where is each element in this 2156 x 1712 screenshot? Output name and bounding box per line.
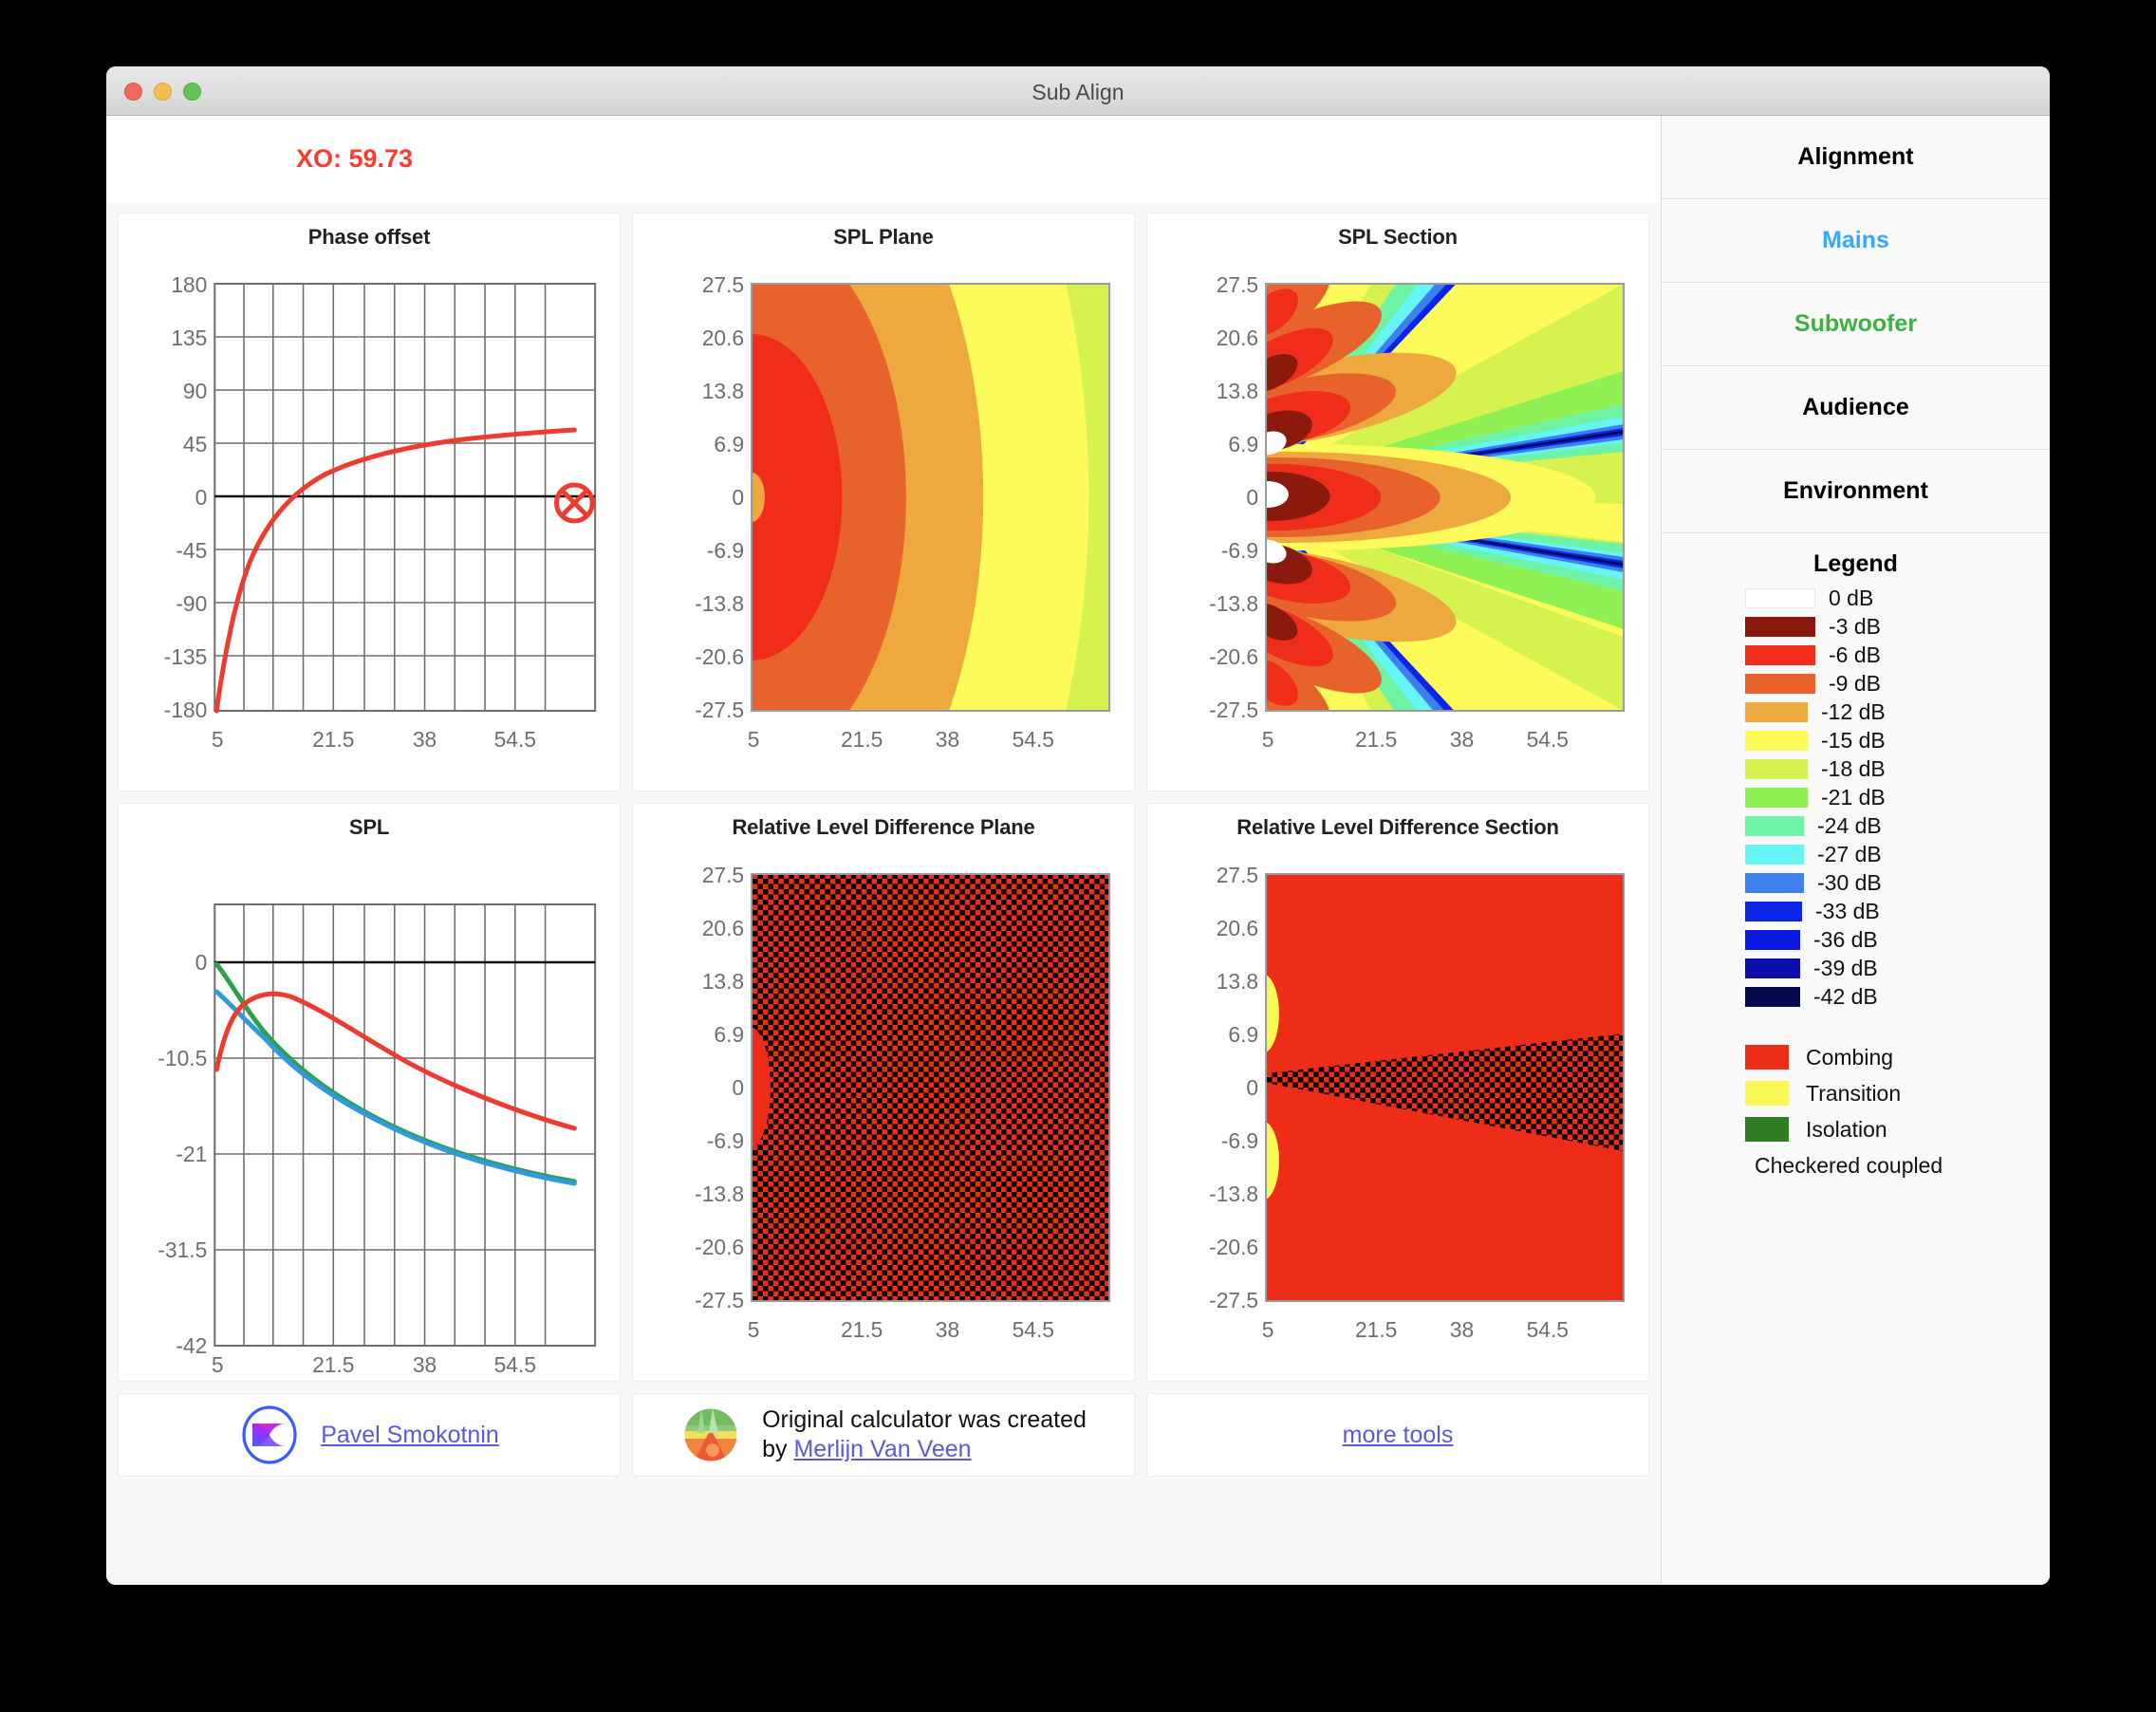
legend-row: -42 dB <box>1745 982 2050 1011</box>
legend-row-isolation: Isolation <box>1745 1111 2050 1147</box>
legend-swatch <box>1745 788 1808 808</box>
chart-title-spl-plane: SPL Plane <box>639 225 1128 250</box>
legend-label: -33 dB <box>1815 899 1880 924</box>
svg-text:27.5: 27.5 <box>1217 863 1258 887</box>
svg-text:-180: -180 <box>164 698 208 722</box>
svg-text:5: 5 <box>1262 727 1274 752</box>
svg-text:21.5: 21.5 <box>312 727 354 752</box>
author-link[interactable]: Pavel Smokotnin <box>321 1422 499 1449</box>
svg-text:-13.8: -13.8 <box>1209 591 1258 616</box>
svg-text:-45: -45 <box>176 538 207 563</box>
footer-credit-cell: Original calculator was created by Merli… <box>632 1393 1135 1477</box>
legend-label: -15 dB <box>1821 728 1886 754</box>
legend-label: -18 dB <box>1821 756 1886 782</box>
legend-swatch <box>1745 759 1808 779</box>
svg-text:13.8: 13.8 <box>1217 969 1258 994</box>
svg-text:20.6: 20.6 <box>1217 916 1258 940</box>
svg-text:-6.9: -6.9 <box>1221 1128 1258 1153</box>
svg-text:13.8: 13.8 <box>702 379 744 403</box>
svg-text:-21: -21 <box>176 1142 207 1166</box>
plot-row-bottom: SPL 0 -10.5 -21 -31.5 -42 <box>106 803 1661 1393</box>
svg-text:-20.6: -20.6 <box>1209 644 1258 669</box>
window-body: XO: 59.73 Phase offset 180 135 <box>106 116 2050 1585</box>
legend-label: -6 dB <box>1829 642 1881 668</box>
svg-text:6.9: 6.9 <box>714 1022 744 1047</box>
legend-label: -27 dB <box>1817 842 1882 867</box>
legend-label: -42 dB <box>1813 984 1878 1010</box>
legend-swatch <box>1745 845 1804 865</box>
legend-label: Combing <box>1806 1045 1893 1070</box>
svg-text:6.9: 6.9 <box>1228 1022 1258 1047</box>
svg-text:6.9: 6.9 <box>1228 432 1258 456</box>
legend-swatch <box>1745 958 1800 978</box>
svg-text:-27.5: -27.5 <box>695 698 744 722</box>
svg-text:-90: -90 <box>176 591 207 616</box>
legend-label: -24 dB <box>1817 813 1882 839</box>
legend-label: -21 dB <box>1821 785 1886 810</box>
chart-title-phase-offset: Phase offset <box>124 225 614 250</box>
chart-spl-plane[interactable]: 27.5 20.6 13.8 6.9 0 -6.9 -13.8 -20.6 -2… <box>639 257 1128 785</box>
panel-spl-plane: SPL Plane 27.5 20.6 13.8 6.9 <box>632 213 1135 791</box>
legend-row: -33 dB <box>1745 897 2050 925</box>
svg-text:0: 0 <box>1246 1075 1258 1100</box>
legend-row-transition: Transition <box>1745 1075 2050 1111</box>
svg-text:54.5: 54.5 <box>1527 1317 1569 1342</box>
svg-text:0: 0 <box>195 485 208 510</box>
svg-text:21.5: 21.5 <box>312 1352 354 1375</box>
svg-text:-20.6: -20.6 <box>1209 1235 1258 1259</box>
svg-text:21.5: 21.5 <box>841 1317 883 1342</box>
svg-text:-27.5: -27.5 <box>695 1288 744 1312</box>
legend-title: Legend <box>1662 533 2050 584</box>
svg-text:-10.5: -10.5 <box>158 1046 207 1070</box>
svg-text:21.5: 21.5 <box>841 727 883 752</box>
credit-prefix: Original calculator was created <box>762 1406 1087 1433</box>
legend-swatch <box>1745 674 1815 694</box>
svg-text:-13.8: -13.8 <box>695 1182 744 1206</box>
legend-swatch <box>1745 930 1800 950</box>
sidebar-item-audience[interactable]: Audience <box>1662 366 2050 450</box>
footer-more-tools-cell: more tools <box>1146 1393 1649 1477</box>
panel-rld-plane: Relative Level Difference Plane <box>632 803 1135 1382</box>
svg-text:38: 38 <box>936 727 959 752</box>
legend-row: -12 dB <box>1745 698 2050 726</box>
legend-row: 0 dB <box>1745 584 2050 612</box>
legend-scale-list: 0 dB -3 dB -6 dB -9 dB -12 dB <box>1662 584 2050 1179</box>
svg-text:38: 38 <box>936 1317 959 1342</box>
svg-text:54.5: 54.5 <box>1013 727 1054 752</box>
svg-text:0: 0 <box>732 485 744 510</box>
credit-by: by <box>762 1436 793 1462</box>
legend-row-combing: Combing <box>1745 1039 2050 1075</box>
main-content: XO: 59.73 Phase offset 180 135 <box>106 116 1661 1585</box>
svg-text:54.5: 54.5 <box>494 1352 536 1375</box>
panel-spl: SPL 0 -10.5 -21 -31.5 -42 <box>118 803 621 1382</box>
svg-text:-6.9: -6.9 <box>707 538 744 563</box>
svg-text:38: 38 <box>413 1352 437 1375</box>
svg-text:90: 90 <box>183 379 207 403</box>
svg-text:5: 5 <box>212 1352 224 1375</box>
panel-rld-section: Relative Level Difference Section <box>1146 803 1649 1382</box>
panel-spl-section: SPL Section 27.5 20.6 13.8 6.9 <box>1146 213 1649 791</box>
svg-text:6.9: 6.9 <box>714 432 744 456</box>
svg-text:-42: -42 <box>176 1333 207 1358</box>
legend-row: -36 dB <box>1745 925 2050 954</box>
svg-text:20.6: 20.6 <box>702 916 744 940</box>
legend-swatch <box>1745 702 1808 722</box>
legend-label: -36 dB <box>1813 927 1878 953</box>
chart-spl-section[interactable]: 27.5 20.6 13.8 6.9 0 -6.9 -13.8 -20.6 -2… <box>1153 257 1643 785</box>
chart-spl[interactable]: 0 -10.5 -21 -31.5 -42 <box>124 847 614 1375</box>
legend-row: -21 dB <box>1745 783 2050 811</box>
footer-author-cell: Pavel Smokotnin <box>118 1393 621 1477</box>
svg-text:-20.6: -20.6 <box>695 1235 744 1259</box>
svg-text:54.5: 54.5 <box>1527 727 1569 752</box>
title-bar: Sub Align <box>106 66 2050 116</box>
svg-text:5: 5 <box>748 727 760 752</box>
legend-label: Isolation <box>1806 1117 1887 1143</box>
svg-text:38: 38 <box>1450 727 1474 752</box>
legend-swatch <box>1745 1117 1789 1142</box>
sidebar: Alignment Mains Subwoofer Audience Envir… <box>1661 116 2050 1585</box>
legend-label: -30 dB <box>1817 870 1882 896</box>
svg-text:5: 5 <box>748 1317 760 1342</box>
svg-text:-13.8: -13.8 <box>695 591 744 616</box>
legend-row: -15 dB <box>1745 726 2050 754</box>
legend-swatch <box>1745 987 1800 1007</box>
legend-label: -39 dB <box>1813 956 1878 981</box>
svg-text:13.8: 13.8 <box>702 969 744 994</box>
legend-row: -39 dB <box>1745 954 2050 982</box>
sidebar-item-environment[interactable]: Environment <box>1662 450 2050 533</box>
svg-text:-6.9: -6.9 <box>1221 538 1258 563</box>
plots-grid: Phase offset 180 135 90 45 0 - <box>106 203 1661 1486</box>
svg-text:-6.9: -6.9 <box>707 1128 744 1153</box>
app-window: Sub Align XO: 59.73 Phase offset <box>106 66 2050 1585</box>
more-tools-link[interactable]: more tools <box>1343 1422 1454 1449</box>
svg-text:38: 38 <box>1450 1317 1474 1342</box>
chart-phase-offset[interactable]: 180 135 90 45 0 -45 -90 -135 -180 <box>124 257 614 785</box>
legend-swatch <box>1745 588 1815 608</box>
svg-text:0: 0 <box>1246 485 1258 510</box>
xo-banner: XO: 59.73 <box>106 116 1661 203</box>
svg-text:-135: -135 <box>164 644 208 669</box>
svg-text:180: 180 <box>171 272 207 297</box>
legend-swatch <box>1745 816 1804 836</box>
panel-phase-offset: Phase offset 180 135 90 45 0 - <box>118 213 621 791</box>
chart-title-spl: SPL <box>124 815 614 840</box>
plot-row-top: Phase offset 180 135 90 45 0 - <box>106 213 1661 803</box>
legend-spacer <box>1745 1011 2050 1039</box>
svg-text:-27.5: -27.5 <box>1209 1288 1258 1312</box>
svg-text:5: 5 <box>212 727 224 752</box>
window-title: Sub Align <box>106 80 2050 105</box>
svg-text:27.5: 27.5 <box>702 863 744 887</box>
svg-text:-13.8: -13.8 <box>1209 1182 1258 1206</box>
svg-text:54.5: 54.5 <box>1013 1317 1054 1342</box>
legend-row: -9 dB <box>1745 669 2050 698</box>
legend-label: 0 dB <box>1829 586 1873 611</box>
svg-text:20.6: 20.6 <box>702 326 744 350</box>
legend-row: -30 dB <box>1745 868 2050 897</box>
footer-row: Pavel Smokotnin <box>106 1393 1661 1486</box>
chart-rld-section[interactable]: 27.5 20.6 13.8 6.9 0 -6.9 -13.8 -20.6 -2… <box>1153 847 1643 1375</box>
sidebar-item-subwoofer[interactable]: Subwoofer <box>1662 283 2050 366</box>
chart-rld-plane[interactable]: 27.5 20.6 13.8 6.9 0 -6.9 -13.8 -20.6 -2… <box>639 847 1128 1375</box>
credit-link[interactable]: Merlijn Van Veen <box>793 1436 971 1462</box>
svg-text:27.5: 27.5 <box>702 272 744 297</box>
legend-swatch <box>1745 645 1815 665</box>
legend-swatch <box>1745 1045 1789 1070</box>
legend-row: -24 dB <box>1745 811 2050 840</box>
chart-title-spl-section: SPL Section <box>1153 225 1643 250</box>
chart-title-rld-plane: Relative Level Difference Plane <box>639 815 1128 840</box>
legend-checkered-note: Checkered coupled <box>1745 1153 2050 1179</box>
svg-text:21.5: 21.5 <box>1355 727 1397 752</box>
svg-text:38: 38 <box>413 727 437 752</box>
svg-text:0: 0 <box>195 950 208 975</box>
legend-label: -12 dB <box>1821 699 1886 725</box>
svg-text:-27.5: -27.5 <box>1209 698 1258 722</box>
legend-label: -9 dB <box>1829 671 1881 697</box>
chart-title-rld-section: Relative Level Difference Section <box>1153 815 1643 840</box>
xo-value: XO: 59.73 <box>296 144 413 174</box>
legend-swatch <box>1745 902 1802 921</box>
legend-row: -6 dB <box>1745 641 2050 669</box>
legend-row: -3 dB <box>1745 612 2050 641</box>
svg-text:20.6: 20.6 <box>1217 326 1258 350</box>
legend-row: -27 dB <box>1745 840 2050 868</box>
legend-label: -3 dB <box>1829 614 1881 640</box>
legend-label: Transition <box>1806 1081 1901 1107</box>
merlijn-van-veen-logo-icon <box>680 1405 741 1465</box>
pavel-smokotnin-logo-icon <box>239 1405 300 1465</box>
svg-text:54.5: 54.5 <box>494 727 536 752</box>
svg-text:5: 5 <box>1262 1317 1274 1342</box>
svg-text:0: 0 <box>732 1075 744 1100</box>
legend-swatch <box>1745 1081 1789 1106</box>
svg-text:45: 45 <box>183 432 207 456</box>
legend-swatch <box>1745 731 1808 751</box>
svg-text:-20.6: -20.6 <box>695 644 744 669</box>
svg-text:21.5: 21.5 <box>1355 1317 1397 1342</box>
svg-text:13.8: 13.8 <box>1217 379 1258 403</box>
sidebar-item-mains[interactable]: Mains <box>1662 199 2050 283</box>
svg-text:27.5: 27.5 <box>1217 272 1258 297</box>
sidebar-item-alignment[interactable]: Alignment <box>1662 116 2050 199</box>
legend-swatch <box>1745 873 1804 893</box>
svg-text:-31.5: -31.5 <box>158 1237 207 1262</box>
credit-text: Original calculator was created by Merli… <box>762 1405 1087 1465</box>
svg-text:135: 135 <box>171 326 207 350</box>
legend-swatch <box>1745 617 1815 637</box>
legend-row: -18 dB <box>1745 754 2050 783</box>
